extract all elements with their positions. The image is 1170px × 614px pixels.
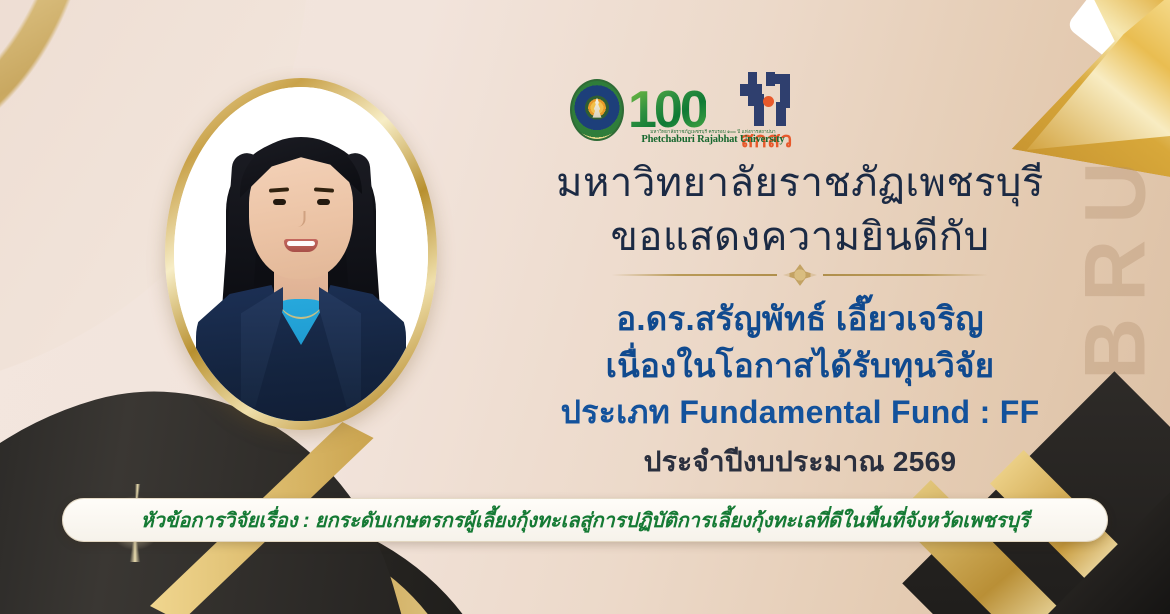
fund-type: ประเภท Fundamental Fund : FF bbox=[470, 390, 1130, 435]
ornamental-divider bbox=[470, 262, 1130, 288]
honoree-name: อ.ดร.สรัญพัทธ์ เอี๊ยวเจริญ bbox=[470, 296, 1130, 343]
pbru-caption-english: Phetchaburi Rajabhat University bbox=[618, 134, 808, 145]
research-title-pill: หัวข้อการวิจัยเรื่อง : ยกระดับเกษตรกรผู้… bbox=[62, 498, 1108, 542]
pbru-logo-caption: มหาวิทยาลัยราชภัฏเพชรบุรี ครบรอบ ๑๐๐ ปี … bbox=[618, 129, 808, 145]
logo-row: 100 มหาวิทยาลัยราชภัฏเพชรบุรี ครบรอบ ๑๐๐… bbox=[570, 60, 900, 160]
honoree-portrait bbox=[165, 78, 437, 430]
portrait-photo bbox=[174, 87, 428, 421]
divider-rule-right bbox=[823, 274, 988, 276]
fiscal-year: ประจำปีงบประมาณ 2569 bbox=[470, 440, 1130, 484]
tsri-orange-dot-icon bbox=[763, 96, 774, 107]
pbru-seal-icon bbox=[570, 79, 624, 141]
pbru-centennial-logo: 100 มหาวิทยาลัยราชภัฏเพชรบุรี ครบรอบ ๑๐๐… bbox=[570, 79, 706, 141]
congratulation-heading: มหาวิทยาลัยราชภัฏเพชรบุรี ขอแสดงความยินด… bbox=[470, 156, 1130, 265]
divider-rule-left bbox=[612, 274, 777, 276]
bottom-right-black-triangle bbox=[1038, 474, 1170, 614]
honoree-occasion: เนื่องในโอกาสได้รับทุนวิจัย bbox=[470, 343, 1130, 390]
research-title-text: หัวข้อการวิจัยเรื่อง : ยกระดับเกษตรกรผู้… bbox=[141, 504, 1030, 536]
congratulations-banner: PBRU bbox=[0, 0, 1170, 614]
heading-line-2: ขอแสดงความยินดีกับ bbox=[470, 210, 1130, 264]
top-right-white-notch-decoration bbox=[1066, 0, 1170, 100]
heading-line-1: มหาวิทยาลัยราชภัฏเพชรบุรี bbox=[470, 156, 1130, 210]
bottom-left-gold-ribbon-back bbox=[0, 471, 487, 614]
divider-diamond-icon bbox=[783, 264, 817, 286]
honoree-details: อ.ดร.สรัญพัทธ์ เอี๊ยวเจริญ เนื่องในโอกาส… bbox=[470, 296, 1130, 435]
tsri-mark-icon bbox=[736, 70, 798, 128]
